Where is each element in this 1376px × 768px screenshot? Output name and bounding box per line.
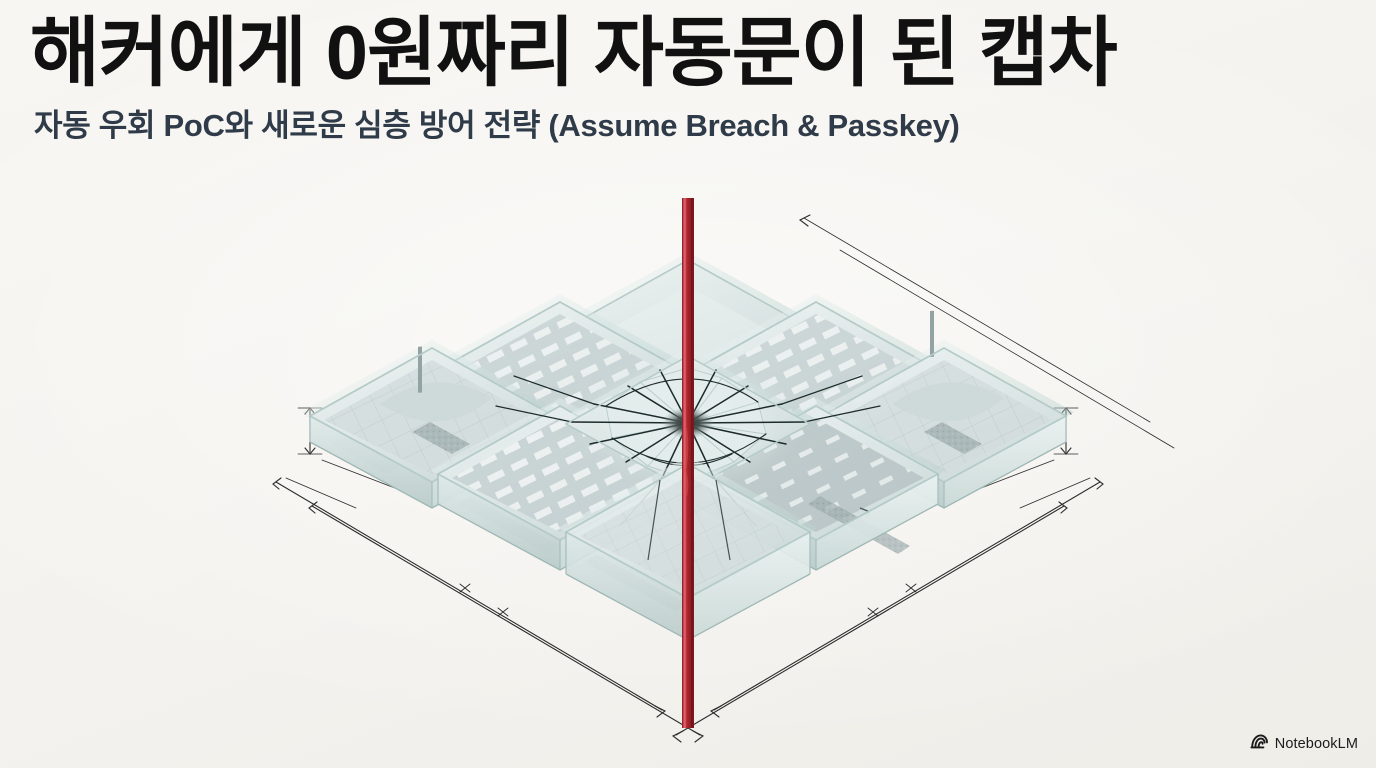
hero-illustration (0, 190, 1376, 768)
page-subtitle: 자동 우회 PoC와 새로운 심층 방어 전략 (Assume Breach &… (34, 107, 1350, 144)
page-title: 해커에게 0원짜리 자동문이 된 캡차 (30, 14, 1350, 95)
notebooklm-spiral-icon (1250, 734, 1269, 754)
brand-footer: NotebookLM (1250, 734, 1358, 754)
title-block: 해커에게 0원짜리 자동문이 된 캡차 자동 우회 PoC와 새로운 심층 방어… (30, 14, 1350, 144)
presentation-slide: 해커에게 0원짜리 자동문이 된 캡차 자동 우회 PoC와 새로운 심층 방어… (0, 0, 1376, 768)
brand-label: NotebookLM (1275, 736, 1358, 752)
shattered-captcha-grid-svg (0, 190, 1376, 768)
red-breach-bar (682, 198, 694, 728)
